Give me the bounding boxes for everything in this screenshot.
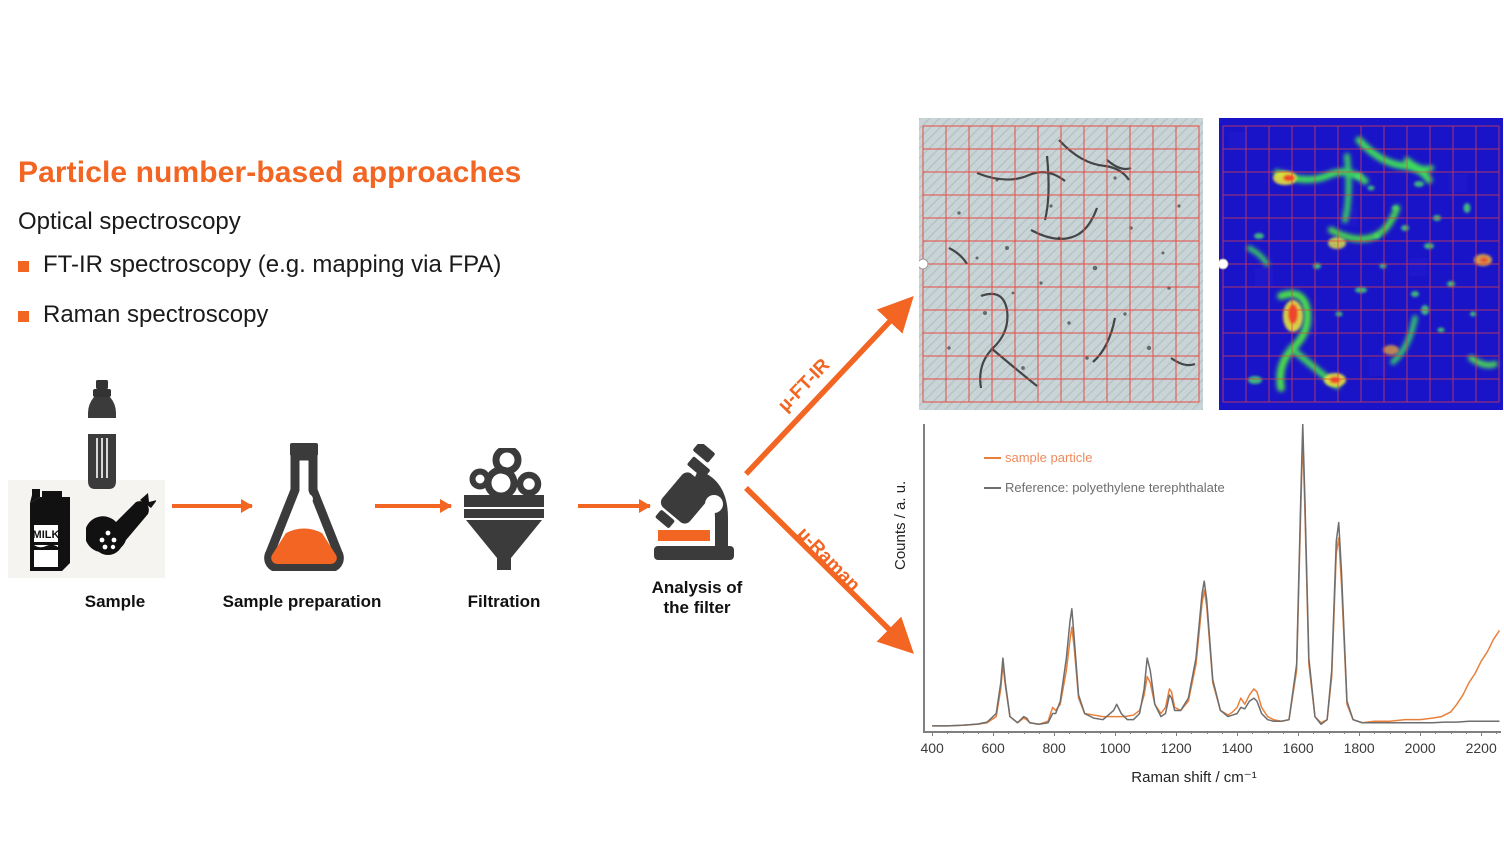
x-tick [1298, 731, 1299, 736]
scale-marker [1219, 259, 1228, 269]
x-minor-tick [1130, 731, 1131, 734]
x-minor-tick [1344, 731, 1345, 734]
x-tick [1359, 731, 1360, 736]
optical-micrograph-image [919, 118, 1203, 410]
x-minor-tick [1191, 731, 1192, 734]
x-minor-tick [1069, 731, 1070, 734]
x-minor-tick [1024, 731, 1025, 734]
x-tick [1481, 731, 1482, 736]
subheading: Optical spectroscopy [18, 208, 241, 236]
x-tick [993, 731, 994, 736]
legend-swatch [984, 487, 1001, 489]
fpa-chemical-map-image [1219, 118, 1503, 410]
arrow-preparation-to-filtration [375, 504, 451, 508]
x-minor-tick [1313, 731, 1314, 734]
x-minor-tick [1085, 731, 1086, 734]
spectrum-plot [923, 424, 1501, 732]
x-tick-label: 2200 [1466, 740, 1497, 756]
funnel-icon [458, 448, 550, 572]
x-tick-label: 600 [981, 740, 1004, 756]
bullet-label: Raman spectroscopy [43, 300, 268, 330]
legend-item-sample-particle: sample particle [984, 450, 1092, 465]
legend-label: Reference: polyethylene terephthalate [1005, 480, 1225, 495]
x-tick-label: 1200 [1161, 740, 1192, 756]
page-title: Particle number-based approaches [18, 156, 521, 190]
x-tick-label: 1600 [1283, 740, 1314, 756]
x-minor-tick [1207, 731, 1208, 734]
sausage-icon [86, 490, 156, 568]
analysis-line-1: Analysis of [652, 578, 743, 597]
x-tick [1054, 731, 1055, 736]
x-minor-tick [1435, 731, 1436, 734]
x-tick [1176, 731, 1177, 736]
x-minor-tick [1451, 731, 1452, 734]
workflow-label-sample: Sample [40, 592, 190, 612]
workflow-label-filtration: Filtration [434, 592, 574, 612]
milk-carton-icon: MILK [18, 485, 80, 573]
x-minor-tick [1329, 731, 1330, 734]
x-minor-tick [978, 731, 979, 734]
bullet-label: FT-IR spectroscopy (e.g. mapping via FPA… [43, 250, 501, 280]
erlenmeyer-flask-icon [262, 443, 346, 571]
water-bottle-icon [80, 380, 124, 492]
x-minor-tick [1222, 731, 1223, 734]
x-minor-tick [1252, 731, 1253, 734]
x-minor-tick [963, 731, 964, 734]
x-minor-tick [1374, 731, 1375, 734]
x-minor-tick [1283, 731, 1284, 734]
milk-carton-text: MILK [33, 529, 60, 541]
x-minor-tick [1405, 731, 1406, 734]
scale-marker [919, 259, 928, 269]
x-minor-tick [1039, 731, 1040, 734]
bullet-item-ftir: FT-IR spectroscopy (e.g. mapping via FPA… [18, 250, 501, 280]
legend-label: sample particle [1005, 450, 1092, 465]
x-minor-tick [1161, 731, 1162, 734]
x-tick [932, 731, 933, 736]
x-minor-tick [947, 731, 948, 734]
bullet-square-icon [18, 311, 29, 322]
x-tick-label: 1400 [1222, 740, 1253, 756]
x-minor-tick [1100, 731, 1101, 734]
x-minor-tick [1146, 731, 1147, 734]
legend-swatch [984, 457, 1001, 459]
workflow-label-sample-preparation: Sample preparation [196, 592, 408, 612]
arrow-sample-to-preparation [172, 504, 252, 508]
x-minor-tick [1008, 731, 1009, 734]
analysis-line-2: the filter [663, 598, 730, 617]
x-tick-label: 2000 [1405, 740, 1436, 756]
x-tick-label: 1800 [1344, 740, 1375, 756]
spectrum-line-1 [932, 424, 1499, 726]
bullet-square-icon [18, 261, 29, 272]
legend-item-reference: Reference: polyethylene terephthalate [984, 480, 1225, 495]
x-axis-title: Raman shift / cm⁻¹ [1131, 768, 1256, 786]
y-axis-title: Counts / a. u. [892, 481, 909, 570]
x-tick [1115, 731, 1116, 736]
raman-spectrum-chart: 4006008001000120014001600180020002200 Ra… [884, 420, 1504, 790]
x-tick [1420, 731, 1421, 736]
x-tick-label: 1000 [1100, 740, 1131, 756]
x-minor-tick [1496, 731, 1497, 734]
x-tick [1237, 731, 1238, 736]
x-tick-label: 400 [920, 740, 943, 756]
x-tick-label: 800 [1042, 740, 1065, 756]
x-minor-tick [1268, 731, 1269, 734]
x-minor-tick [1466, 731, 1467, 734]
bullet-item-raman: Raman spectroscopy [18, 300, 268, 330]
x-minor-tick [1390, 731, 1391, 734]
microscope-icon [636, 444, 744, 568]
